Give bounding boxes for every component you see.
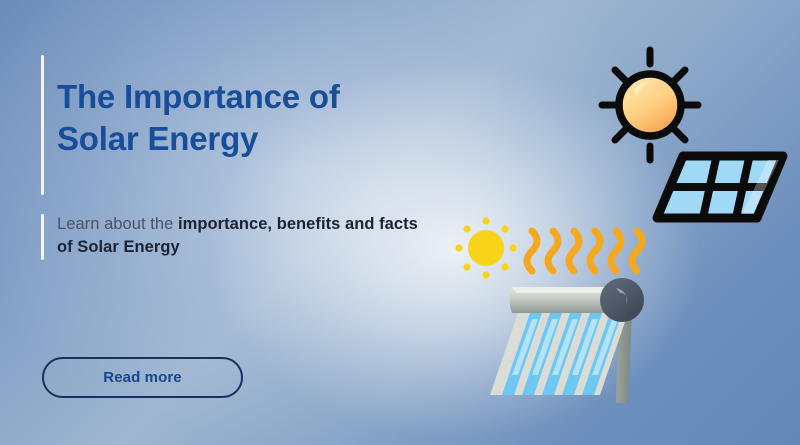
page-title: The Importance of Solar Energy [57,76,437,160]
small-sun-icon [455,217,516,278]
heat-waves-icon [527,231,642,271]
subtitle-lead-text: Learn about the [57,215,178,233]
page-subtitle: Learn about the importance, benefits and… [57,213,437,260]
read-more-button[interactable]: Read more [42,357,243,398]
title-accent-bar [41,55,44,195]
subtitle-accent-bar [41,214,44,260]
solar-energy-banner: The Importance of Solar Energy Learn abo… [0,0,800,445]
solar-water-heater-icon [450,215,670,410]
sun-icon [588,28,768,168]
